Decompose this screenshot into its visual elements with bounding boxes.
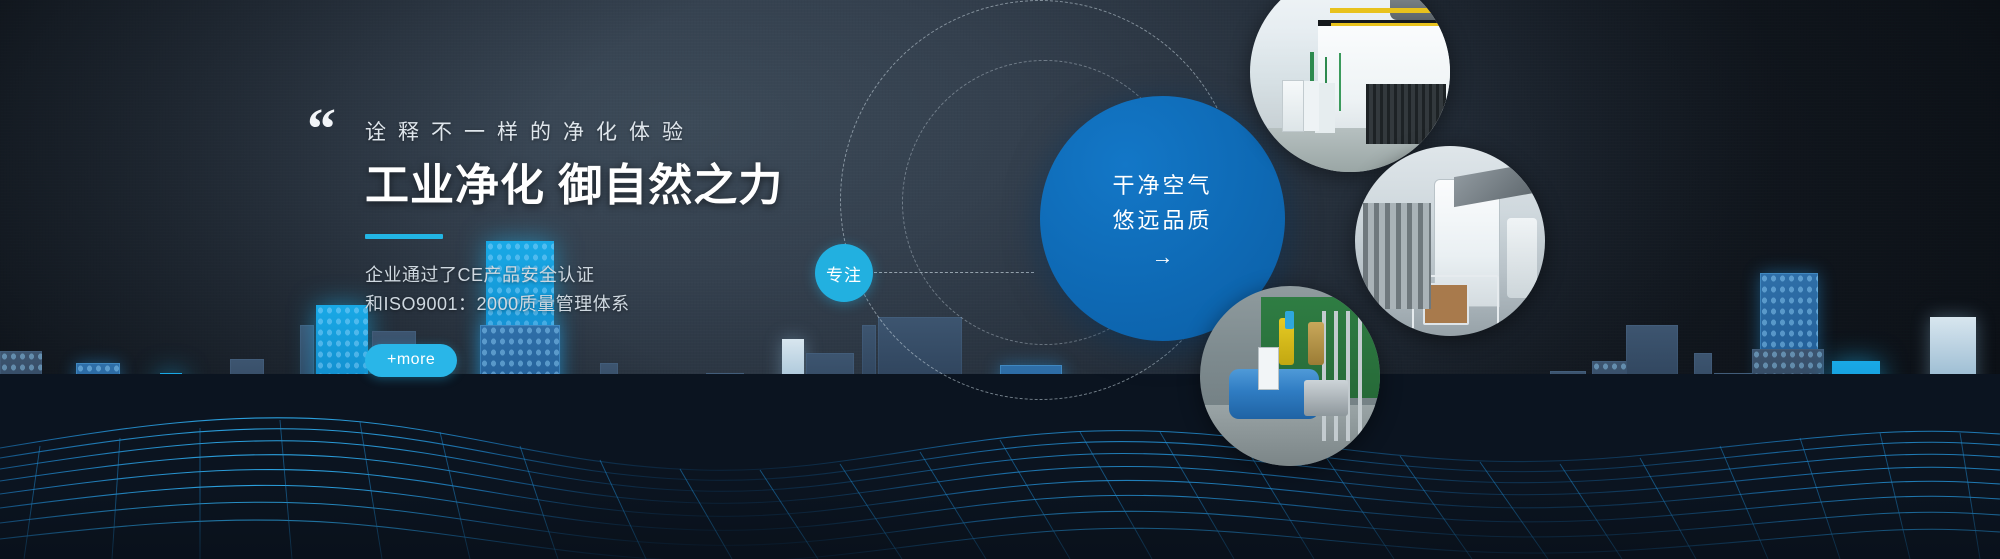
- quote-mark-icon: “: [307, 100, 334, 158]
- core-line-1: 干净空气: [1112, 169, 1212, 203]
- hero-description: 企业通过了CE产品安全认证 和ISO9001：2000质量管理体系: [365, 261, 1005, 320]
- textile-machinery-photo[interactable]: [1355, 146, 1545, 336]
- textile-machinery-scene: [1355, 146, 1545, 336]
- scene-label-plate: [1258, 347, 1280, 390]
- scene-pipes: [1322, 311, 1369, 441]
- hero-banner: “ 诠释不一样的净化体验 工业净化 御自然之力 企业通过了CE产品安全认证 和I…: [0, 0, 2000, 559]
- scene-green-pipes: [1310, 52, 1314, 112]
- scene-yellow-railing: [1330, 8, 1442, 13]
- hero-subtitle: 诠释不一样的净化体验: [365, 120, 1005, 145]
- scene-brass-valve: [1308, 322, 1324, 365]
- scene-cyan-valve: [1285, 311, 1294, 329]
- arrow-right-icon: →: [1152, 246, 1174, 268]
- scene-duct: [1454, 161, 1545, 207]
- more-button[interactable]: +more: [365, 344, 457, 377]
- accent-divider: [365, 234, 443, 239]
- pressure-vessel-photo[interactable]: [1200, 286, 1380, 466]
- hero-text-block: “ 诠释不一样的净化体验 工业净化 御自然之力 企业通过了CE产品安全认证 和I…: [365, 120, 1005, 377]
- hero-headline: 工业净化 御自然之力: [365, 161, 1005, 212]
- core-line-2: 悠远品质: [1112, 204, 1212, 238]
- scene-cabinets: [1282, 80, 1304, 132]
- scene-cart: [1423, 283, 1469, 325]
- description-line-2: 和ISO9001：2000质量管理体系: [365, 290, 1005, 320]
- pressure-vessel-scene: [1200, 286, 1380, 466]
- scene-far-machine: [1507, 218, 1537, 298]
- description-line-1: 企业通过了CE产品安全认证: [365, 261, 1005, 291]
- scene-flange: [1304, 380, 1347, 416]
